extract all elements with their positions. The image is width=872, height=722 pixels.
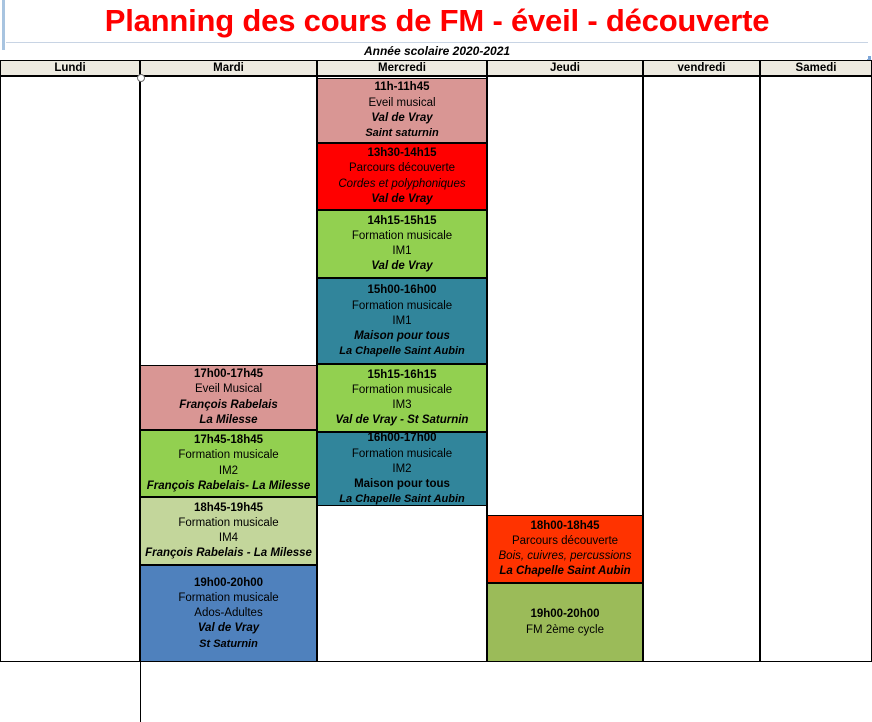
- day-header-mercredi[interactable]: Mercredi: [317, 60, 487, 77]
- event-place: Val de Vray: [320, 111, 484, 126]
- event-level: IM2: [143, 464, 314, 479]
- event-time: 15h15-16h15: [320, 368, 484, 383]
- event-kind: Eveil Musical: [143, 382, 314, 397]
- event-kind: Formation musicale: [320, 447, 484, 462]
- day-header-label: Mardi: [213, 62, 244, 74]
- event-level: IM2: [320, 462, 484, 477]
- event-detail: Cordes et polyphoniques: [320, 177, 484, 192]
- schedule-event-mercredi-6[interactable]: 16h00-17h00Formation musicaleIM2Maison p…: [317, 432, 487, 506]
- schedule-grid: LundiMardiMercrediJeudivendrediSamedi 11…: [0, 60, 872, 662]
- day-header-label: Samedi: [796, 62, 837, 74]
- event-kind: Formation musicale: [320, 299, 484, 314]
- schedule-event-mardi-2[interactable]: 17h45-18h45Formation musicaleIM2François…: [140, 430, 317, 497]
- event-kind: Formation musicale: [143, 516, 314, 531]
- event-place: Val de Vray: [320, 259, 484, 274]
- event-time: 18h00-18h45: [490, 519, 640, 534]
- event-place-secondary: Saint saturnin: [320, 126, 484, 141]
- schedule-event-mercredi-1[interactable]: 11h-11h45Eveil musicalVal de VraySaint s…: [317, 78, 487, 143]
- event-level: IM1: [320, 314, 484, 329]
- day-header-mardi[interactable]: Mardi: [140, 60, 317, 77]
- schedule-event-mardi-3[interactable]: 18h45-19h45Formation musicaleIM4François…: [140, 497, 317, 565]
- event-kind: Eveil musical: [320, 96, 484, 111]
- schedule-event-mercredi-5[interactable]: 15h15-16h15Formation musicaleIM3Val de V…: [317, 364, 487, 432]
- event-time: 16h00-17h00: [320, 432, 484, 447]
- day-column-vendredi[interactable]: [643, 77, 760, 662]
- event-kind: FM 2ème cycle: [490, 623, 640, 638]
- event-teacher: François Rabelais: [143, 398, 314, 413]
- day-column-lundi[interactable]: [0, 77, 140, 662]
- event-place: Maison pour tous: [320, 329, 484, 344]
- event-place: François Rabelais - La Milesse: [143, 546, 314, 561]
- event-place: Val de Vray: [320, 192, 484, 207]
- event-time: 11h-11h45: [320, 80, 484, 95]
- event-place: Val de Vray: [143, 621, 314, 636]
- event-kind: Parcours découverte: [320, 161, 484, 176]
- event-kind: Formation musicale: [143, 591, 314, 606]
- day-column-samedi[interactable]: [760, 77, 872, 662]
- edge-marker-blue: [2, 0, 5, 50]
- schedule-event-mardi-1[interactable]: 17h00-17h45Eveil MusicalFrançois Rabelai…: [140, 365, 317, 430]
- event-kind: Formation musicale: [143, 448, 314, 463]
- event-time: 18h45-19h45: [143, 501, 314, 516]
- event-time: 19h00-20h00: [143, 576, 314, 591]
- event-kind: Formation musicale: [320, 229, 484, 244]
- event-time: 15h00-16h00: [320, 283, 484, 298]
- event-detail: Bois, cuivres, percussions: [490, 549, 640, 564]
- event-time: 19h00-20h00: [490, 607, 640, 622]
- schedule-event-mercredi-3[interactable]: 14h15-15h15Formation musicaleIM1Val de V…: [317, 210, 487, 278]
- event-place: Maison pour tous: [320, 477, 484, 492]
- day-header-label: Lundi: [54, 62, 85, 74]
- schedule-event-mardi-4[interactable]: 19h00-20h00Formation musicaleAdos-Adulte…: [140, 565, 317, 662]
- event-level: Ados-Adultes: [143, 606, 314, 621]
- column-selection-line: [140, 120, 141, 722]
- day-header-row: LundiMardiMercrediJeudivendrediSamedi: [0, 60, 872, 77]
- event-time: 17h00-17h45: [143, 367, 314, 382]
- schedule-event-jeudi-1[interactable]: 18h00-18h45Parcours découverteBois, cuiv…: [487, 515, 643, 583]
- schedule-event-jeudi-2[interactable]: 19h00-20h00FM 2ème cycle: [487, 583, 643, 662]
- event-level: IM1: [320, 244, 484, 259]
- schedule-event-mercredi-2[interactable]: 13h30-14h15Parcours découverteCordes et …: [317, 143, 487, 210]
- event-kind: Parcours découverte: [490, 534, 640, 549]
- event-level: IM3: [320, 398, 484, 413]
- event-place: Val de Vray - St Saturnin: [320, 413, 484, 428]
- event-time: 17h45-18h45: [143, 433, 314, 448]
- event-place: François Rabelais- La Milesse: [143, 479, 314, 494]
- day-header-label: vendredi: [678, 62, 726, 74]
- day-header-jeudi[interactable]: Jeudi: [487, 60, 643, 77]
- subtitle-bar: Année scolaire 2020-2021: [6, 43, 868, 59]
- event-time: 14h15-15h15: [320, 214, 484, 229]
- event-kind: Formation musicale: [320, 383, 484, 398]
- document-title-bar: Planning des cours de FM - éveil - décou…: [6, 0, 868, 42]
- event-place: La Chapelle Saint Aubin: [490, 564, 640, 579]
- event-level: IM4: [143, 531, 314, 546]
- day-header-vendredi[interactable]: vendredi: [643, 60, 760, 77]
- schedule-event-mercredi-4[interactable]: 15h00-16h00Formation musicaleIM1Maison p…: [317, 278, 487, 364]
- school-year-subtitle: Année scolaire 2020-2021: [364, 44, 510, 58]
- event-place-secondary: La Chapelle Saint Aubin: [320, 344, 484, 359]
- day-header-label: Mercredi: [378, 62, 426, 74]
- event-time: 13h30-14h15: [320, 146, 484, 161]
- selection-handle[interactable]: [137, 74, 145, 82]
- page-title: Planning des cours de FM - éveil - décou…: [105, 3, 770, 39]
- event-place-secondary: St Saturnin: [143, 637, 314, 652]
- day-header-label: Jeudi: [550, 62, 580, 74]
- day-header-lundi[interactable]: Lundi: [0, 60, 140, 77]
- day-header-samedi[interactable]: Samedi: [760, 60, 872, 77]
- event-place: La Milesse: [143, 413, 314, 428]
- event-place-secondary: La Chapelle Saint Aubin: [320, 492, 484, 506]
